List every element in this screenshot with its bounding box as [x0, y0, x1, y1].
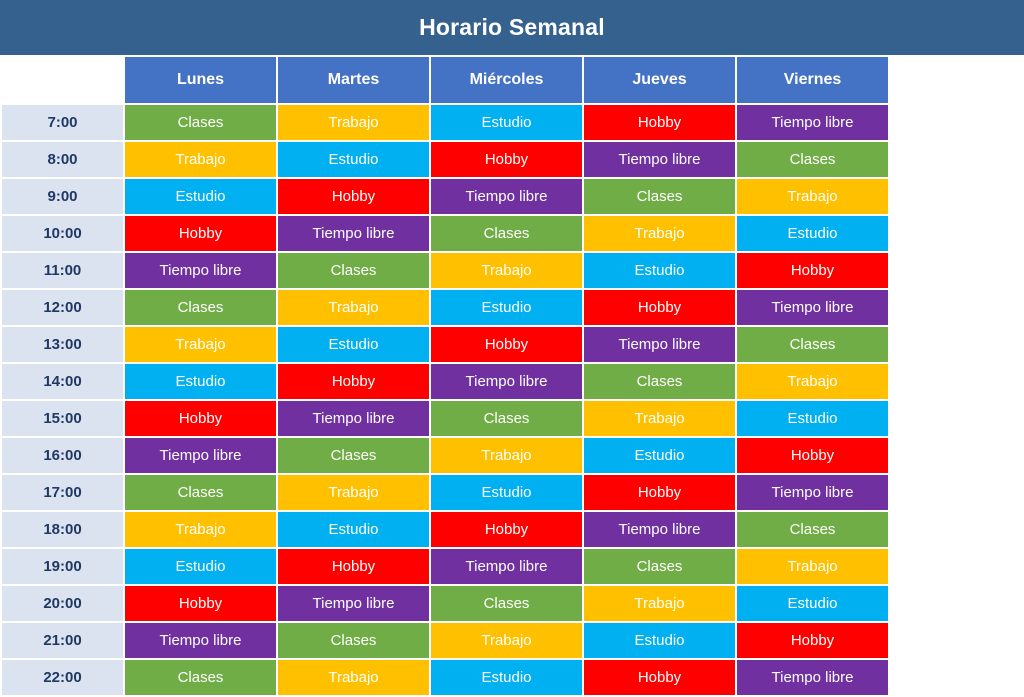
- activity-cell-clases[interactable]: Clases: [431, 586, 582, 621]
- activity-cell-trabajo[interactable]: Trabajo: [737, 549, 888, 584]
- activity-cell-estudio[interactable]: Estudio: [278, 512, 429, 547]
- activity-cell-hobby[interactable]: Hobby: [125, 586, 276, 621]
- activity-cell-clases[interactable]: Clases: [125, 660, 276, 695]
- activity-cell-clases[interactable]: Clases: [584, 364, 735, 399]
- table-body: 7:00ClasesTrabajoEstudioHobbyTiempo libr…: [2, 105, 888, 695]
- time-label-11-00: 11:00: [2, 253, 123, 288]
- schedule-row: 14:00EstudioHobbyTiempo libreClasesTraba…: [2, 364, 888, 399]
- activity-cell-estudio[interactable]: Estudio: [278, 142, 429, 177]
- activity-cell-hobby[interactable]: Hobby: [737, 438, 888, 473]
- activity-cell-tiempo-libre[interactable]: Tiempo libre: [584, 327, 735, 362]
- activity-cell-tiempo-libre[interactable]: Tiempo libre: [278, 216, 429, 251]
- activity-cell-hobby[interactable]: Hobby: [431, 512, 582, 547]
- header-row: LunesMartesMiércolesJuevesViernes: [2, 57, 888, 103]
- activity-cell-hobby[interactable]: Hobby: [584, 660, 735, 695]
- activity-cell-clases[interactable]: Clases: [278, 253, 429, 288]
- activity-cell-tiempo-libre[interactable]: Tiempo libre: [278, 586, 429, 621]
- activity-cell-trabajo[interactable]: Trabajo: [278, 475, 429, 510]
- schedule-row: 21:00Tiempo libreClasesTrabajoEstudioHob…: [2, 623, 888, 658]
- activity-cell-trabajo[interactable]: Trabajo: [431, 623, 582, 658]
- time-label-10-00: 10:00: [2, 216, 123, 251]
- schedule-row: 16:00Tiempo libreClasesTrabajoEstudioHob…: [2, 438, 888, 473]
- activity-cell-estudio[interactable]: Estudio: [584, 253, 735, 288]
- time-label-14-00: 14:00: [2, 364, 123, 399]
- activity-cell-tiempo-libre[interactable]: Tiempo libre: [431, 179, 582, 214]
- page-title: Horario Semanal: [419, 14, 605, 41]
- schedule-row: 20:00HobbyTiempo libreClasesTrabajoEstud…: [2, 586, 888, 621]
- activity-cell-hobby[interactable]: Hobby: [278, 179, 429, 214]
- activity-cell-clases[interactable]: Clases: [737, 512, 888, 547]
- activity-cell-tiempo-libre[interactable]: Tiempo libre: [584, 142, 735, 177]
- activity-cell-clases[interactable]: Clases: [737, 327, 888, 362]
- schedule-row: 18:00TrabajoEstudioHobbyTiempo libreClas…: [2, 512, 888, 547]
- activity-cell-trabajo[interactable]: Trabajo: [125, 327, 276, 362]
- activity-cell-estudio[interactable]: Estudio: [431, 475, 582, 510]
- activity-cell-clases[interactable]: Clases: [278, 438, 429, 473]
- activity-cell-clases[interactable]: Clases: [125, 105, 276, 140]
- activity-cell-clases[interactable]: Clases: [125, 290, 276, 325]
- activity-cell-hobby[interactable]: Hobby: [584, 475, 735, 510]
- activity-cell-estudio[interactable]: Estudio: [737, 401, 888, 436]
- schedule-row: 10:00HobbyTiempo libreClasesTrabajoEstud…: [2, 216, 888, 251]
- activity-cell-tiempo-libre[interactable]: Tiempo libre: [737, 105, 888, 140]
- activity-cell-tiempo-libre[interactable]: Tiempo libre: [278, 401, 429, 436]
- activity-cell-hobby[interactable]: Hobby: [584, 290, 735, 325]
- activity-cell-tiempo-libre[interactable]: Tiempo libre: [737, 660, 888, 695]
- corner-cell: [2, 57, 123, 103]
- activity-cell-tiempo-libre[interactable]: Tiempo libre: [125, 623, 276, 658]
- schedule-row: 15:00HobbyTiempo libreClasesTrabajoEstud…: [2, 401, 888, 436]
- activity-cell-clases[interactable]: Clases: [431, 216, 582, 251]
- activity-cell-estudio[interactable]: Estudio: [584, 623, 735, 658]
- activity-cell-trabajo[interactable]: Trabajo: [584, 586, 735, 621]
- schedule-row: 22:00ClasesTrabajoEstudioHobbyTiempo lib…: [2, 660, 888, 695]
- title-bar: Horario Semanal: [0, 0, 1024, 55]
- activity-cell-clases[interactable]: Clases: [584, 549, 735, 584]
- schedule-row: 7:00ClasesTrabajoEstudioHobbyTiempo libr…: [2, 105, 888, 140]
- activity-cell-tiempo-libre[interactable]: Tiempo libre: [431, 549, 582, 584]
- table-head: LunesMartesMiércolesJuevesViernes: [2, 57, 888, 103]
- activity-cell-hobby[interactable]: Hobby: [431, 327, 582, 362]
- schedule-row: 12:00ClasesTrabajoEstudioHobbyTiempo lib…: [2, 290, 888, 325]
- activity-cell-trabajo[interactable]: Trabajo: [278, 290, 429, 325]
- activity-cell-trabajo[interactable]: Trabajo: [278, 105, 429, 140]
- day-header-martes: Martes: [278, 57, 429, 103]
- activity-cell-estudio[interactable]: Estudio: [125, 364, 276, 399]
- time-label-16-00: 16:00: [2, 438, 123, 473]
- activity-cell-clases[interactable]: Clases: [431, 401, 582, 436]
- activity-cell-estudio[interactable]: Estudio: [125, 179, 276, 214]
- activity-cell-hobby[interactable]: Hobby: [737, 253, 888, 288]
- activity-cell-trabajo[interactable]: Trabajo: [584, 216, 735, 251]
- schedule-row: 19:00EstudioHobbyTiempo libreClasesTraba…: [2, 549, 888, 584]
- activity-cell-hobby[interactable]: Hobby: [431, 142, 582, 177]
- day-header-jueves: Jueves: [584, 57, 735, 103]
- time-label-17-00: 17:00: [2, 475, 123, 510]
- activity-cell-estudio[interactable]: Estudio: [431, 290, 582, 325]
- activity-cell-clases[interactable]: Clases: [584, 179, 735, 214]
- time-label-7-00: 7:00: [2, 105, 123, 140]
- activity-cell-trabajo[interactable]: Trabajo: [737, 179, 888, 214]
- time-label-19-00: 19:00: [2, 549, 123, 584]
- activity-cell-hobby[interactable]: Hobby: [737, 623, 888, 658]
- activity-cell-tiempo-libre[interactable]: Tiempo libre: [431, 364, 582, 399]
- activity-cell-trabajo[interactable]: Trabajo: [125, 142, 276, 177]
- time-label-21-00: 21:00: [2, 623, 123, 658]
- activity-cell-trabajo[interactable]: Trabajo: [431, 438, 582, 473]
- time-label-20-00: 20:00: [2, 586, 123, 621]
- activity-cell-tiempo-libre[interactable]: Tiempo libre: [737, 290, 888, 325]
- activity-cell-clases[interactable]: Clases: [278, 623, 429, 658]
- activity-cell-trabajo[interactable]: Trabajo: [278, 660, 429, 695]
- activity-cell-trabajo[interactable]: Trabajo: [431, 253, 582, 288]
- activity-cell-tiempo-libre[interactable]: Tiempo libre: [125, 253, 276, 288]
- schedule-row: 11:00Tiempo libreClasesTrabajoEstudioHob…: [2, 253, 888, 288]
- activity-cell-estudio[interactable]: Estudio: [125, 549, 276, 584]
- activity-cell-hobby[interactable]: Hobby: [278, 364, 429, 399]
- activity-cell-tiempo-libre[interactable]: Tiempo libre: [125, 438, 276, 473]
- activity-cell-trabajo[interactable]: Trabajo: [584, 401, 735, 436]
- activity-cell-trabajo[interactable]: Trabajo: [737, 364, 888, 399]
- schedule-row: 9:00EstudioHobbyTiempo libreClasesTrabaj…: [2, 179, 888, 214]
- time-label-18-00: 18:00: [2, 512, 123, 547]
- weekly-schedule-table: LunesMartesMiércolesJuevesViernes 7:00Cl…: [0, 55, 890, 697]
- activity-cell-tiempo-libre[interactable]: Tiempo libre: [737, 475, 888, 510]
- time-label-13-00: 13:00: [2, 327, 123, 362]
- schedule-container: LunesMartesMiércolesJuevesViernes 7:00Cl…: [0, 55, 1024, 697]
- activity-cell-estudio[interactable]: Estudio: [431, 660, 582, 695]
- activity-cell-estudio[interactable]: Estudio: [431, 105, 582, 140]
- activity-cell-trabajo[interactable]: Trabajo: [125, 512, 276, 547]
- time-label-12-00: 12:00: [2, 290, 123, 325]
- activity-cell-estudio[interactable]: Estudio: [737, 586, 888, 621]
- activity-cell-estudio[interactable]: Estudio: [584, 438, 735, 473]
- activity-cell-estudio[interactable]: Estudio: [737, 216, 888, 251]
- activity-cell-clases[interactable]: Clases: [737, 142, 888, 177]
- day-header-viernes: Viernes: [737, 57, 888, 103]
- activity-cell-hobby[interactable]: Hobby: [584, 105, 735, 140]
- activity-cell-clases[interactable]: Clases: [125, 475, 276, 510]
- activity-cell-hobby[interactable]: Hobby: [125, 401, 276, 436]
- activity-cell-hobby[interactable]: Hobby: [278, 549, 429, 584]
- activity-cell-tiempo-libre[interactable]: Tiempo libre: [584, 512, 735, 547]
- time-label-8-00: 8:00: [2, 142, 123, 177]
- time-label-9-00: 9:00: [2, 179, 123, 214]
- activity-cell-estudio[interactable]: Estudio: [278, 327, 429, 362]
- schedule-row: 13:00TrabajoEstudioHobbyTiempo libreClas…: [2, 327, 888, 362]
- day-header-miercoles: Miércoles: [431, 57, 582, 103]
- activity-cell-hobby[interactable]: Hobby: [125, 216, 276, 251]
- schedule-row: 8:00TrabajoEstudioHobbyTiempo libreClase…: [2, 142, 888, 177]
- schedule-row: 17:00ClasesTrabajoEstudioHobbyTiempo lib…: [2, 475, 888, 510]
- time-label-22-00: 22:00: [2, 660, 123, 695]
- day-header-lunes: Lunes: [125, 57, 276, 103]
- time-label-15-00: 15:00: [2, 401, 123, 436]
